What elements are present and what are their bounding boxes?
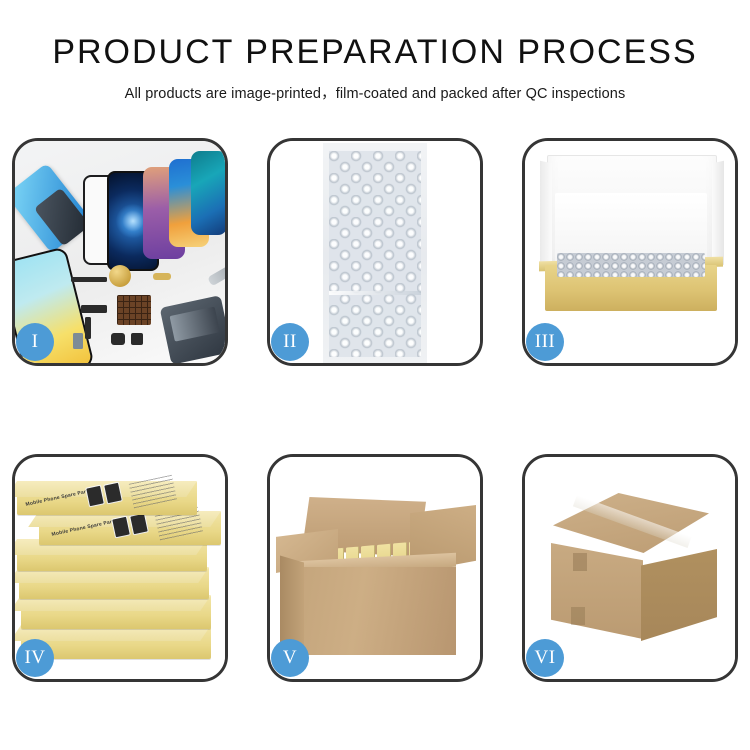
stacked-box-top-right: Mobile Phone Spare Parts [39,511,221,545]
stacked-box-top-left: Mobile Phone Spare Parts [17,481,197,515]
process-step-panel-3: III [522,138,738,366]
ribbon-cable-icon [85,317,91,339]
page-header: PRODUCT PREPARATION PROCESS All products… [0,0,750,103]
bag-seam [329,291,421,295]
tape-mark-upper [573,553,587,571]
open-kraft-box-photo: III [525,141,735,363]
carton-front-face [551,543,643,639]
step-badge-1: I [16,323,54,361]
step-badge-3: III [526,323,564,361]
sim-tray-icon [73,333,83,349]
process-step-panel-4: Mobile Phone Spare Parts Mobile Phone Sp… [12,454,228,682]
page-subtitle: All products are image-printed，film-coat… [0,82,750,103]
page-title: PRODUCT PREPARATION PROCESS [0,34,750,71]
step-badge-4: IV [16,639,54,677]
flex-cable-icon [71,277,107,282]
open-carton-photo: V [270,457,480,679]
bubble-wrapped-contents [557,253,705,277]
step-badge-2: II [271,323,309,361]
step-badge-6: VI [526,639,564,677]
carton-body [296,567,456,655]
step-badge-5: V [271,639,309,677]
stacked-boxes-photo: Mobile Phone Spare Parts Mobile Phone Sp… [15,457,225,679]
taptic-icon [131,333,143,345]
kraft-box-base [545,265,717,311]
speaker-icon [111,333,125,345]
product-preparation-page: PRODUCT PREPARATION PROCESS All products… [0,0,750,750]
process-steps-grid: I II III [12,138,738,682]
camera-module-icon [109,265,131,287]
phone-logic-board-icon [160,295,225,363]
bubble-wrap-bag [323,143,427,363]
spare-parts-cluster [67,261,225,363]
phone-parts-photo: I [15,141,225,363]
box-spec-lines [129,475,177,510]
connector-icon [81,305,107,313]
box-stack: Mobile Phone Spare Parts Mobile Phone Sp… [17,475,225,671]
stacked-box [21,595,211,629]
carton-side-face [641,549,717,641]
sealed-carton-photo: VI [525,457,735,679]
process-step-panel-1: I [12,138,228,366]
bubble-texture [329,151,421,357]
stacked-box [19,567,209,599]
bubble-wrap-photo: II [270,141,480,363]
process-step-panel-6: VI [522,454,738,682]
process-step-panel-5: V [267,454,483,682]
tweezers-icon [207,258,225,287]
process-step-panel-2: II [267,138,483,366]
button-flex-icon [153,273,171,280]
screw-tray-icon [117,295,151,325]
phone-teal-gradient-icon [191,151,225,235]
tape-mark-lower [571,607,585,625]
